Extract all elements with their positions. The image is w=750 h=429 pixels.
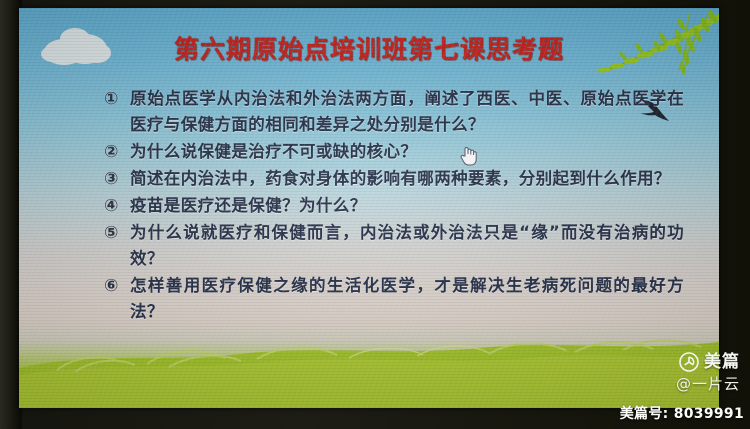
list-item: ① 原始点医学从内治法和外治法两方面，阐述了西医、中医、原始点医学在医疗与保健方… [104, 86, 684, 138]
question-list: ① 原始点医学从内治法和外治法两方面，阐述了西医、中医、原始点医学在医疗与保健方… [104, 86, 684, 326]
grass-field-icon [19, 328, 719, 408]
watermark-user-label: @一片云 [676, 377, 740, 392]
question-text: 怎样善用医疗保健之缘的生活化医学，才是解决生老病死问题的最好方法？ [130, 273, 684, 325]
watermark: 美篇 @一片云 [676, 352, 740, 392]
question-text: 原始点医学从内治法和外治法两方面，阐述了西医、中医、原始点医学在医疗与保健方面的… [130, 86, 684, 138]
question-marker: ② [104, 139, 130, 165]
question-marker: ③ [104, 166, 130, 192]
question-marker: ④ [104, 193, 130, 219]
screenshot-root: 第六期原始点培训班第七课思考题 ① 原始点医学从内治法和外治法两方面，阐述了西医… [0, 0, 750, 429]
list-item: ② 为什么说保健是治疗不可或缺的核心？ [104, 139, 684, 165]
question-text: 简述在内治法中，药食对身体的影响有哪两种要素，分别起到什么作用？ [130, 166, 684, 192]
question-text: 为什么说就医疗和保健而言，内治法或外治法只是“缘”而没有治病的功效？ [130, 220, 684, 272]
list-item: ⑤ 为什么说就医疗和保健而言，内治法或外治法只是“缘”而没有治病的功效？ [104, 220, 684, 272]
question-marker: ⑤ [104, 220, 130, 246]
question-marker: ⑥ [104, 273, 130, 299]
list-item: ⑥ 怎样善用医疗保健之缘的生活化医学，才是解决生老病死问题的最好方法？ [104, 273, 684, 325]
question-text: 为什么说保健是治疗不可或缺的核心？ [130, 139, 684, 165]
hand-pointer-cursor [460, 145, 477, 166]
watermark-id-label: 美篇号: 8039991 [620, 403, 744, 423]
watermark-brand-row: 美篇 [676, 352, 740, 372]
presentation-slide: 第六期原始点培训班第七课思考题 ① 原始点医学从内治法和外治法两方面，阐述了西医… [19, 8, 719, 408]
list-item: ③ 简述在内治法中，药食对身体的影响有哪两种要素，分别起到什么作用？ [104, 166, 684, 192]
watermark-brand-label: 美篇 [704, 354, 740, 371]
page-title: 第六期原始点培训班第七课思考题 [19, 30, 719, 66]
question-text: 疫苗是医疗还是保健？为什么？ [130, 193, 684, 219]
list-item: ④ 疫苗是医疗还是保健？为什么？ [104, 193, 684, 219]
question-marker: ① [104, 86, 130, 112]
meipian-logo-icon [679, 352, 699, 372]
